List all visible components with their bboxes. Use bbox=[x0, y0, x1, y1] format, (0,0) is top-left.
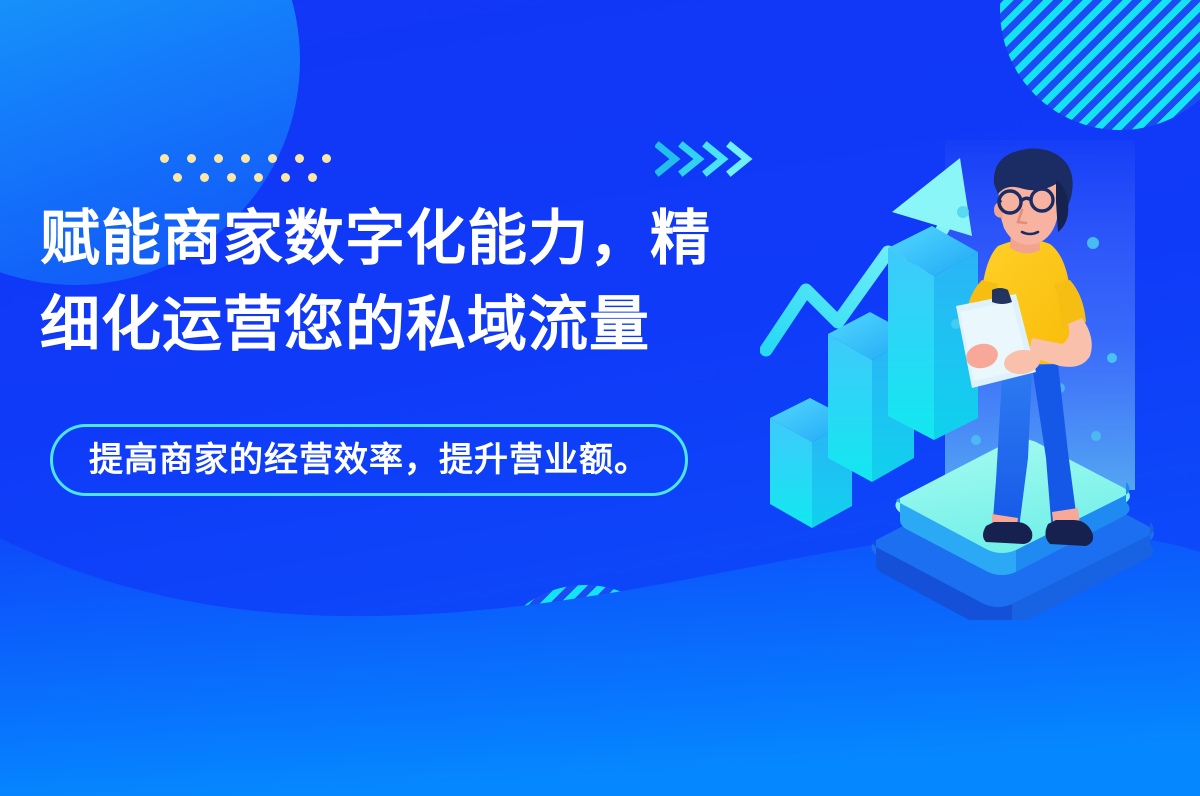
hero-illustration bbox=[760, 140, 1200, 620]
chevron-right-icon-group bbox=[655, 140, 755, 178]
decorative-dot-grid bbox=[160, 148, 325, 184]
page-title: 赋能商家数字化能力，精 细化运营您的私域流量 bbox=[40, 196, 770, 368]
subtitle-text: 提高商家的经营效率，提升营业额。 bbox=[89, 443, 649, 477]
promo-banner: 赋能商家数字化能力，精 细化运营您的私域流量 提高商家的经营效率，提升营业额。 bbox=[0, 0, 1200, 796]
subtitle-pill: 提高商家的经营效率，提升营业额。 bbox=[50, 424, 688, 496]
